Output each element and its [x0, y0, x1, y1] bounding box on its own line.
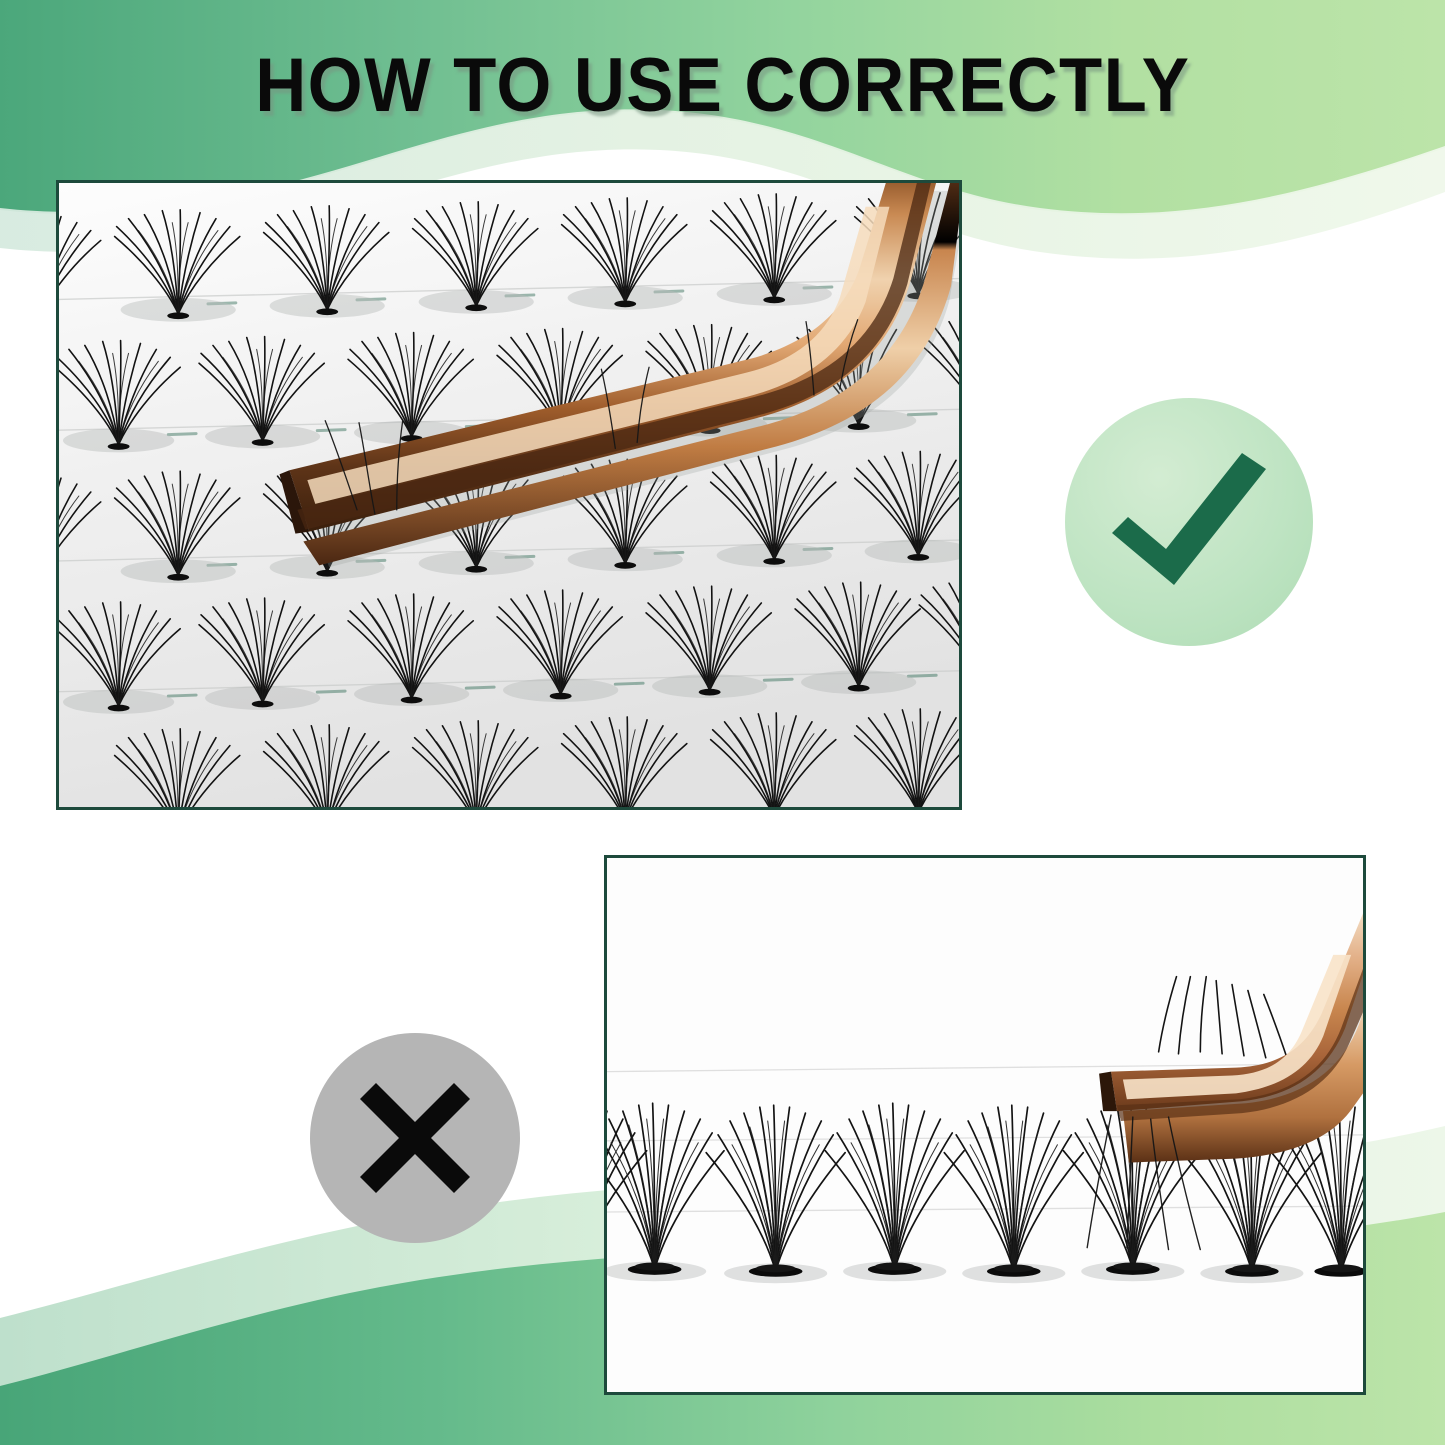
page-title-text: HOW TO USE CORRECTLY [255, 48, 1190, 124]
check-icon [1104, 447, 1274, 597]
photo-correct-content [59, 183, 959, 807]
photo-incorrect-content [607, 858, 1363, 1392]
photo-panel-correct [56, 180, 962, 810]
lash-row-with-tweezer-illustration [607, 858, 1363, 1392]
status-badge-correct [1065, 398, 1313, 646]
photo-panel-incorrect [604, 855, 1366, 1395]
page-title: HOW TO USE CORRECTLY [0, 48, 1445, 124]
lash-tray-with-tweezer-illustration [59, 183, 959, 807]
status-badge-incorrect [310, 1033, 520, 1243]
cross-icon [356, 1079, 474, 1197]
infographic-root: HOW TO USE CORRECTLY [0, 0, 1445, 1445]
